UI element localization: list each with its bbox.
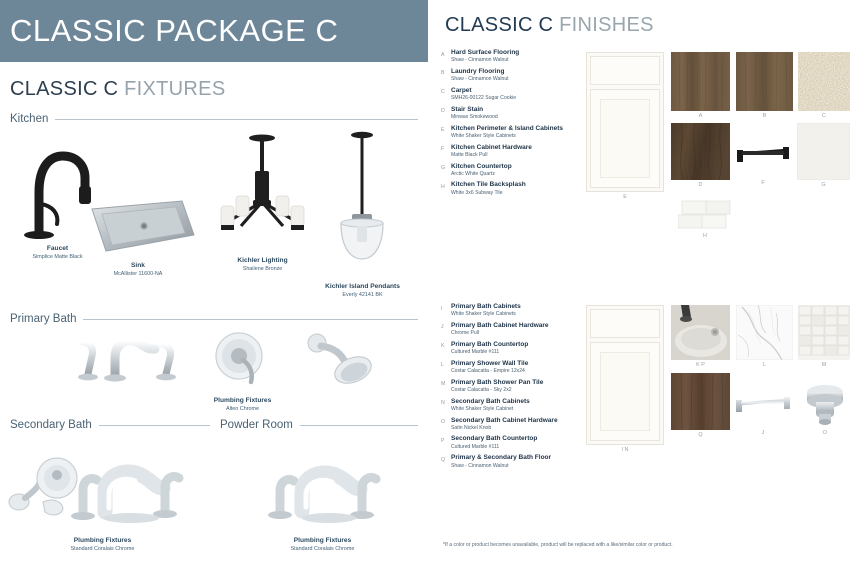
- finish-letter: O: [441, 417, 451, 426]
- swatch-carpet: C: [798, 52, 850, 116]
- fixture-name: Plumbing Fixtures: [195, 397, 290, 406]
- section-rule: [83, 319, 418, 320]
- finish-detail: Shaw - Cinnamon Walnut: [451, 463, 586, 470]
- swatch-bath-floor: Q: [671, 373, 730, 435]
- cabinet-door-panel: [590, 89, 660, 188]
- finish-name: Primary & Secondary Bath Floor: [451, 454, 586, 462]
- section-rule: [55, 119, 418, 120]
- fixture-detail: McAllister 11600-NA: [78, 271, 198, 278]
- secondary-bath-fixtures-icon: [5, 440, 200, 530]
- section-label-kitchen: Kitchen: [10, 113, 48, 125]
- swatch-kitchen-countertop: G: [797, 123, 850, 185]
- powder-room-fixtures-icon: [230, 445, 415, 530]
- finish-name: Hard Surface Flooring: [451, 49, 586, 57]
- swatch-label-c: C: [798, 113, 850, 119]
- finish-item: C Carpet SMH26-00122 Sugar Cookie: [441, 87, 586, 102]
- fixture-pendant: Kichler Island Pendants Everly 42141 BK: [305, 128, 420, 299]
- swatch-bath-cabinet-door: I N: [586, 305, 664, 445]
- finishes-heading-dark: CLASSIC C: [445, 14, 553, 36]
- carpet-swatch-c: [798, 52, 850, 111]
- section-rule: [300, 425, 418, 426]
- cabinet-door-panel: [590, 342, 660, 441]
- page-title: CLASSIC PACKAGE C: [0, 13, 338, 49]
- finish-letter: B: [441, 68, 451, 77]
- fixture-detail: Everly 42141 BK: [305, 292, 420, 299]
- finishes-heading: CLASSIC C FINISHES: [445, 14, 654, 37]
- finish-letter: P: [441, 435, 451, 444]
- finish-detail: Arctic White Quartz: [451, 171, 586, 178]
- finish-item: H Kitchen Tile Backsplash White 3x6 Subw…: [441, 181, 586, 196]
- swatch-label-e: E: [586, 194, 664, 200]
- finish-detail: White Shaker Style Cabinets: [451, 133, 586, 140]
- finish-detail: Satin Nickel Knob: [451, 425, 586, 432]
- chrome-pull-icon: [733, 392, 793, 430]
- shower-head-icon: [295, 328, 390, 390]
- fixtures-heading-dark: CLASSIC C: [10, 78, 118, 100]
- calacatta-swatch-l: [736, 305, 793, 360]
- swatch-bath-hardware-knob: O: [800, 380, 850, 435]
- header-bar: CLASSIC PACKAGE C: [0, 0, 428, 62]
- swatch-label-q: Q: [671, 432, 730, 438]
- finishes-list-upper: A Hard Surface Flooring Shaw - Cinnamon …: [441, 49, 586, 200]
- widespread-faucet-icon: [60, 330, 190, 390]
- finish-name: Primary Bath Countertop: [451, 341, 586, 349]
- finish-name: Kitchen Countertop: [451, 163, 586, 171]
- section-label-primary-bath: Primary Bath: [10, 313, 76, 325]
- swatch-kitchen-cabinet-door: E: [586, 52, 664, 192]
- section-header-powder-room: Powder Room: [220, 419, 418, 431]
- finish-letter: N: [441, 398, 451, 407]
- finish-detail: Minwax Smokewood: [451, 114, 586, 121]
- swatch-bath-countertop: K P: [671, 305, 730, 365]
- swatch-label-o: O: [800, 430, 850, 436]
- finish-item: N Secondary Bath Cabinets White Shaker S…: [441, 398, 586, 413]
- finish-item: Q Primary & Secondary Bath Floor Shaw - …: [441, 454, 586, 469]
- finish-detail: Matte Black Pull: [451, 152, 586, 159]
- finish-name: Stair Stain: [451, 106, 586, 114]
- fixture-name: Kichler Island Pendants: [305, 283, 420, 292]
- finish-detail: White 3x6 Subway Tile: [451, 190, 586, 197]
- swatch-label-f: F: [733, 180, 793, 186]
- section-header-primary-bath: Primary Bath: [10, 313, 418, 325]
- finish-name: Secondary Bath Cabinets: [451, 398, 586, 406]
- finishes-heading-light: FINISHES: [559, 14, 654, 36]
- finish-letter: Q: [441, 454, 451, 463]
- finish-name: Primary Bath Cabinets: [451, 303, 586, 311]
- swatch-label-m: M: [798, 362, 850, 368]
- swatch-label-b: B: [736, 113, 793, 119]
- finish-item: O Secondary Bath Cabinet Hardware Satin …: [441, 417, 586, 432]
- finish-name: Kitchen Perimeter & Island Cabinets: [451, 125, 586, 133]
- fixture-name: Plumbing Fixtures: [230, 537, 415, 546]
- finish-detail: Shaw - Cinnamon Walnut: [451, 57, 586, 64]
- swatch-label-g: G: [797, 182, 850, 188]
- finish-name: Kitchen Tile Backsplash: [451, 181, 586, 189]
- swatch-label-d: D: [671, 182, 730, 188]
- cabinet-drawer-front: [590, 56, 660, 85]
- finish-letter: J: [441, 322, 451, 331]
- finish-item: E Kitchen Perimeter & Island Cabinets Wh…: [441, 125, 586, 140]
- swatch-label-l: L: [736, 362, 793, 368]
- finish-item: B Laundry Flooring Shaw - Cinnamon Walnu…: [441, 68, 586, 83]
- fixture-detail: Standard Coralais Chrome: [5, 546, 200, 553]
- pendant-light-icon: [305, 128, 420, 278]
- sink-icon: [78, 195, 198, 257]
- satin-nickel-knob-icon: [800, 380, 850, 430]
- section-header-kitchen: Kitchen: [10, 113, 418, 125]
- quartz-swatch-g: [797, 123, 850, 180]
- finish-detail: Costar Calacatta - Sky 2x2: [451, 387, 586, 394]
- finish-name: Primary Shower Wall Tile: [451, 360, 586, 368]
- finish-item: F Kitchen Cabinet Hardware Matte Black P…: [441, 144, 586, 159]
- fixtures-heading: CLASSIC C FIXTURES: [10, 78, 225, 101]
- fixture-detail: Alteo Chrome: [195, 406, 290, 413]
- finish-letter: K: [441, 341, 451, 350]
- finish-letter: G: [441, 163, 451, 172]
- shower-valve-icon: [195, 330, 290, 392]
- cabinet-drawer-front: [590, 309, 660, 338]
- finish-detail: White Shaker Style Cabinet: [451, 406, 586, 413]
- wood-swatch-q: [671, 373, 730, 430]
- finish-detail: Cultured Marble #111: [451, 444, 586, 451]
- finish-name: Primary Bath Shower Pan Tile: [451, 379, 586, 387]
- fixture-detail: Shailene Bronze: [205, 266, 320, 273]
- finish-detail: Costar Calacatta - Empire 12x24: [451, 368, 586, 375]
- finish-name: Carpet: [451, 87, 586, 95]
- finish-letter: H: [441, 181, 451, 190]
- fixture-name: Kichler Lighting: [205, 257, 320, 266]
- swatch-bath-hardware-pull: J: [733, 392, 793, 435]
- chandelier-icon: [205, 130, 320, 252]
- cultured-marble-sink-icon: [671, 305, 730, 360]
- bath-cabinet-door-graphic: [586, 305, 664, 445]
- fixture-detail: Standard Coralais Chrome: [230, 546, 415, 553]
- section-label-powder-room: Powder Room: [220, 419, 293, 431]
- fixtures-heading-light: FIXTURES: [124, 78, 225, 100]
- swatch-laundry-flooring: B: [736, 52, 793, 116]
- finish-name: Secondary Bath Countertop: [451, 435, 586, 443]
- fixture-primary-bath-faucet: [60, 330, 190, 395]
- finish-letter: L: [441, 360, 451, 369]
- finish-item: L Primary Shower Wall Tile Costar Calaca…: [441, 360, 586, 375]
- finish-name: Laundry Flooring: [451, 68, 586, 76]
- subway-tile-icon: [678, 200, 732, 232]
- finish-name: Secondary Bath Cabinet Hardware: [451, 417, 586, 425]
- finish-detail: Cultured Marble #111: [451, 349, 586, 356]
- mosaic-tile-swatch-m: [798, 305, 850, 360]
- finish-item: K Primary Bath Countertop Cultured Marbl…: [441, 341, 586, 356]
- finish-letter: A: [441, 49, 451, 58]
- finish-letter: E: [441, 125, 451, 134]
- finish-name: Kitchen Cabinet Hardware: [451, 144, 586, 152]
- finish-item: G Kitchen Countertop Arctic White Quartz: [441, 163, 586, 178]
- section-label-secondary-bath: Secondary Bath: [10, 419, 92, 431]
- swatch-shower-pan-tile: M: [798, 305, 850, 365]
- finish-letter: F: [441, 144, 451, 153]
- finishes-list-lower: I Primary Bath Cabinets White Shaker Sty…: [441, 303, 586, 473]
- fixture-name: Plumbing Fixtures: [5, 537, 200, 546]
- finish-item: J Primary Bath Cabinet Hardware Chrome P…: [441, 322, 586, 337]
- finish-detail: SMH26-00122 Sugar Cookie: [451, 95, 586, 102]
- finish-item: D Stair Stain Minwax Smokewood: [441, 106, 586, 121]
- finish-item: I Primary Bath Cabinets White Shaker Sty…: [441, 303, 586, 318]
- fixture-name: Sink: [78, 262, 198, 271]
- package-spec-sheet: CLASSIC PACKAGE C CLASSIC C FIXTURES Kit…: [0, 0, 853, 569]
- finish-item: P Secondary Bath Countertop Cultured Mar…: [441, 435, 586, 450]
- fixture-secondary-bath-group: Plumbing Fixtures Standard Coralais Chro…: [5, 440, 200, 553]
- finish-item: M Primary Bath Shower Pan Tile Costar Ca…: [441, 379, 586, 394]
- swatch-label-h: H: [678, 233, 732, 239]
- swatch-label-in: I N: [586, 447, 664, 453]
- finish-detail: White Shaker Style Cabinets: [451, 311, 586, 318]
- swatch-shower-wall-tile: L: [736, 305, 793, 365]
- disclaimer-note: *If a color or product becomes unavailab…: [443, 542, 673, 548]
- finish-letter: C: [441, 87, 451, 96]
- finish-detail: Chrome Pull: [451, 330, 586, 337]
- matte-black-pull-icon: [733, 140, 793, 180]
- swatch-kitchen-hardware: F: [733, 140, 793, 185]
- wood-swatch-b: [736, 52, 793, 111]
- finish-detail: Shaw - Cinnamon Walnut: [451, 76, 586, 83]
- finish-letter: I: [441, 303, 451, 312]
- finish-letter: D: [441, 106, 451, 115]
- wood-swatch-a: [671, 52, 730, 111]
- swatch-label-kp: K P: [671, 362, 730, 368]
- fixture-powder-room-group: Plumbing Fixtures Standard Coralais Chro…: [230, 445, 415, 553]
- swatch-backsplash-tile: H: [678, 200, 732, 237]
- fixture-shower-head: [295, 328, 390, 395]
- swatch-stair-stain: D: [671, 123, 730, 185]
- section-rule: [99, 425, 210, 426]
- finish-name: Primary Bath Cabinet Hardware: [451, 322, 586, 330]
- finish-item: A Hard Surface Flooring Shaw - Cinnamon …: [441, 49, 586, 64]
- finish-letter: M: [441, 379, 451, 388]
- fixture-shower-valve: Plumbing Fixtures Alteo Chrome: [195, 330, 290, 413]
- cabinet-door-graphic: [586, 52, 664, 192]
- fixture-sink: Sink McAllister 11600-NA: [78, 195, 198, 278]
- section-header-secondary-bath: Secondary Bath: [10, 419, 210, 431]
- swatch-label-a: A: [671, 113, 730, 119]
- swatch-label-j: J: [733, 430, 793, 436]
- swatch-hard-surface-flooring: A: [671, 52, 730, 116]
- fixture-chandelier: Kichler Lighting Shailene Bronze: [205, 130, 320, 273]
- wood-swatch-d: [671, 123, 730, 180]
